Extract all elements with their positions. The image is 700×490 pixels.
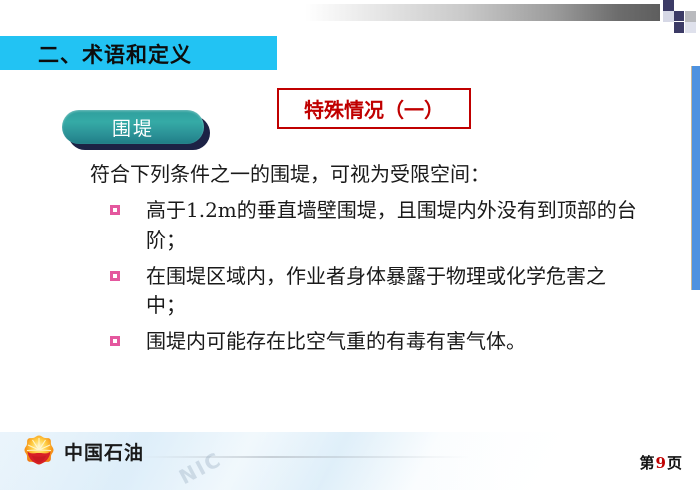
- right-blue-strip: [691, 66, 700, 290]
- top-gradient-bar: [305, 4, 660, 21]
- callout-box: 特殊情况（一）: [277, 88, 471, 129]
- deco-square-navy-2: [674, 11, 684, 21]
- deco-square-light-2: [685, 22, 696, 33]
- page-number-prefix: 第: [640, 454, 655, 472]
- term-pill: 围堤: [62, 110, 210, 150]
- section-title-text: 二、术语和定义: [38, 39, 192, 69]
- bullet-text-2: 在围堤区域内，作业者身体暴露于物理或化学危害之中；: [104, 262, 640, 321]
- section-title-band: 二、术语和定义: [0, 36, 277, 70]
- square-bullet-icon: [110, 205, 120, 215]
- bullet-text-3: 围堤内可能存在比空气重的有毒有害气体。: [104, 327, 640, 357]
- lead-sentence: 符合下列条件之一的围堤，可视为受限空间：: [90, 160, 640, 188]
- square-bullet-icon: [110, 271, 120, 281]
- slide-canvas: 二、术语和定义 围堤 特殊情况（一） 符合下列条件之一的围堤，可视为受限空间： …: [0, 0, 700, 490]
- term-pill-body: 围堤: [62, 110, 204, 144]
- square-bullet-icon: [110, 336, 120, 346]
- deco-square-light-1: [663, 11, 674, 22]
- footer-streak-line: [140, 456, 470, 458]
- bullet-item-1: 高于1.2m的垂直墙壁围堤，且围堤内外没有到顶部的台阶；: [60, 196, 640, 255]
- content-body: 符合下列条件之一的围堤，可视为受限空间： 高于1.2m的垂直墙壁围堤，且围堤内外…: [60, 160, 640, 362]
- brand-logo-group: 中国石油: [22, 434, 144, 468]
- deco-square-navy-1: [663, 0, 674, 11]
- bullet-item-3: 围堤内可能存在比空气重的有毒有害气体。: [60, 327, 640, 357]
- page-number-value: 9: [655, 454, 667, 472]
- deco-square-navy-3: [674, 22, 684, 33]
- term-pill-label: 围堤: [112, 114, 154, 141]
- page-number: 第9页: [640, 452, 682, 473]
- brand-name-label: 中国石油: [64, 438, 144, 465]
- deco-square-gray-1: [685, 11, 696, 22]
- page-number-suffix: 页: [667, 454, 682, 472]
- petrochina-logo-icon: [22, 434, 56, 468]
- callout-label: 特殊情况（一）: [304, 94, 444, 123]
- bullet-item-2: 在围堤区域内，作业者身体暴露于物理或化学危害之中；: [60, 262, 640, 321]
- bullet-text-1: 高于1.2m的垂直墙壁围堤，且围堤内外没有到顶部的台阶；: [104, 196, 640, 255]
